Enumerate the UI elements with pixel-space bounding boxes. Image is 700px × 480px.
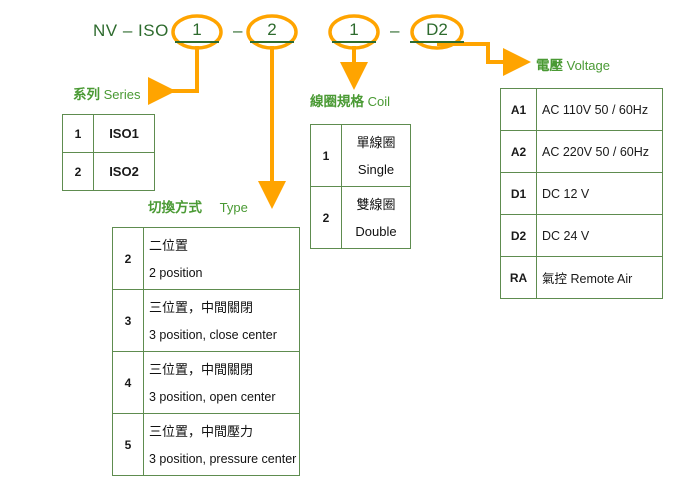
code-rule-type (250, 41, 294, 43)
table-row[interactable]: 1 ISO1 (63, 115, 155, 153)
label-coil-en: Coil (368, 94, 390, 109)
coil-code: 1 (311, 125, 342, 187)
type-desc: 三位置，中間壓力 3 position, pressure center (144, 414, 300, 476)
code-rule-series (175, 41, 219, 43)
type-desc-en: 3 position, close center (149, 327, 299, 343)
voltage-code: D2 (501, 215, 537, 257)
code-slot-coil-value: 1 (332, 19, 376, 41)
table-row[interactable]: 5 三位置，中間壓力 3 position, pressure center (113, 414, 300, 476)
label-voltage-cjk: 電壓 (536, 58, 563, 73)
type-desc-cjk: 二位置 (149, 236, 299, 256)
coil-desc-en: Single (346, 161, 406, 179)
code-slot-voltage[interactable]: D2 (410, 19, 464, 47)
voltage-desc-en: AC 110V 50 / 60Hz (542, 103, 648, 117)
table-row[interactable]: 2 二位置 2 position (113, 228, 300, 290)
voltage-desc-en: Remote Air (571, 272, 633, 286)
voltage-desc: AC 220V 50 / 60Hz (537, 131, 663, 173)
table-type: 2 二位置 2 position 3 三位置，中間關閉 3 position, … (112, 227, 300, 476)
code-slot-series-value: 1 (175, 19, 219, 41)
type-code: 4 (113, 352, 144, 414)
type-desc-en: 3 position, pressure center (149, 451, 299, 467)
label-type-en: Type (220, 200, 248, 215)
label-series-cjk: 系列 (73, 87, 100, 102)
voltage-code: RA (501, 257, 537, 299)
table-row[interactable]: A2 AC 220V 50 / 60Hz (501, 131, 663, 173)
type-desc-en: 2 position (149, 265, 299, 281)
product-code-line: NV – ISO 1 – 2 1 – D2 (0, 0, 700, 58)
voltage-desc-en: AC 220V 50 / 60Hz (542, 145, 649, 159)
type-desc-cjk: 三位置，中間關閉 (149, 360, 299, 380)
voltage-code: A1 (501, 89, 537, 131)
type-code: 5 (113, 414, 144, 476)
label-voltage: 電壓 Voltage (536, 54, 610, 74)
table-row[interactable]: 1 單線圈 Single (311, 125, 411, 187)
table-row[interactable]: 2 ISO2 (63, 153, 155, 191)
table-row[interactable]: 4 三位置，中間關閉 3 position, open center (113, 352, 300, 414)
label-type: 切換方式 Type (148, 196, 248, 216)
table-row[interactable]: 3 三位置，中間關閉 3 position, close center (113, 290, 300, 352)
table-row[interactable]: 2 雙線圈 Double (311, 187, 411, 249)
coil-desc: 雙線圈 Double (342, 187, 411, 249)
voltage-desc: AC 110V 50 / 60Hz (537, 89, 663, 131)
code-prefix: NV – ISO (93, 21, 169, 41)
table-row[interactable]: RA 氣控 Remote Air (501, 257, 663, 299)
code-slot-series[interactable]: 1 (175, 19, 219, 47)
table-row[interactable]: A1 AC 110V 50 / 60Hz (501, 89, 663, 131)
type-code: 2 (113, 228, 144, 290)
table-series: 1 ISO1 2 ISO2 (62, 114, 155, 191)
code-rule-voltage (410, 41, 464, 43)
table-row[interactable]: D2 DC 24 V (501, 215, 663, 257)
table-row[interactable]: D1 DC 12 V (501, 173, 663, 215)
series-code: 2 (63, 153, 94, 191)
code-dash-2: – (390, 21, 399, 41)
type-desc-cjk: 三位置，中間關閉 (149, 298, 299, 318)
series-desc: ISO1 (94, 115, 155, 153)
voltage-desc: DC 24 V (537, 215, 663, 257)
label-series-en: Series (104, 87, 141, 102)
label-voltage-en: Voltage (567, 58, 610, 73)
table-coil: 1 單線圈 Single 2 雙線圈 Double (310, 124, 411, 249)
code-slot-type-value: 2 (250, 19, 294, 41)
series-code: 1 (63, 115, 94, 153)
type-code: 3 (113, 290, 144, 352)
diagram-canvas: NV – ISO 1 – 2 1 – D2 系列 Series 切換方式 Typ… (0, 0, 700, 480)
coil-desc-cjk: 單線圈 (346, 133, 406, 153)
voltage-desc: DC 12 V (537, 173, 663, 215)
coil-code: 2 (311, 187, 342, 249)
type-desc: 二位置 2 position (144, 228, 300, 290)
series-desc: ISO2 (94, 153, 155, 191)
voltage-desc-en: DC 12 V (542, 187, 589, 201)
type-desc-cjk: 三位置，中間壓力 (149, 422, 299, 442)
voltage-desc-en: DC 24 V (542, 229, 589, 243)
label-coil: 線圈規格 Coil (310, 90, 390, 110)
label-type-cjk: 切換方式 (148, 200, 202, 215)
table-voltage: A1 AC 110V 50 / 60Hz A2 AC 220V 50 / 60H… (500, 88, 663, 299)
coil-desc-en: Double (346, 223, 406, 241)
coil-desc: 單線圈 Single (342, 125, 411, 187)
voltage-code: A2 (501, 131, 537, 173)
code-slot-coil[interactable]: 1 (332, 19, 376, 47)
code-slot-voltage-value: D2 (410, 19, 464, 41)
type-desc: 三位置，中間關閉 3 position, close center (144, 290, 300, 352)
voltage-desc: 氣控 Remote Air (537, 257, 663, 299)
code-slot-type[interactable]: 2 (250, 19, 294, 47)
type-desc: 三位置，中間關閉 3 position, open center (144, 352, 300, 414)
type-desc-en: 3 position, open center (149, 389, 299, 405)
coil-desc-cjk: 雙線圈 (346, 195, 406, 215)
voltage-desc-cjk: 氣控 (542, 272, 567, 286)
label-coil-cjk: 線圈規格 (310, 94, 364, 109)
voltage-code: D1 (501, 173, 537, 215)
code-rule-coil (332, 41, 376, 43)
code-dash-1: – (233, 21, 242, 41)
label-series: 系列 Series (73, 83, 140, 103)
